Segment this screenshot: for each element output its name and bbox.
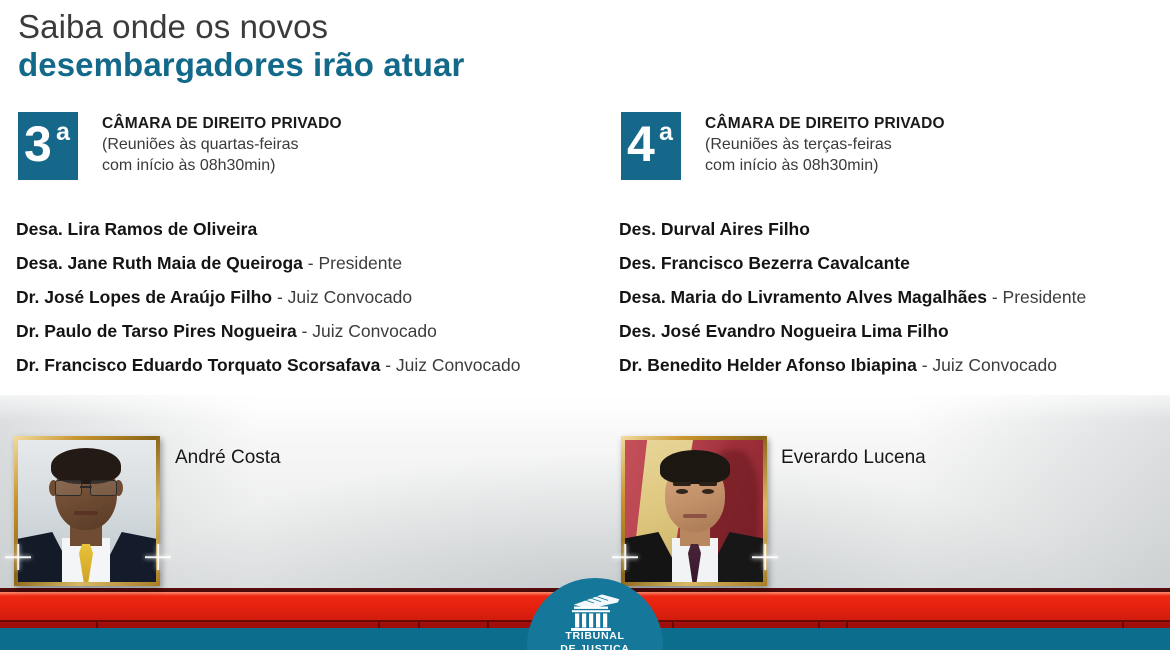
eye-left — [676, 489, 688, 494]
member-role: - Juiz Convocado — [297, 321, 437, 341]
member-row: Dr. Francisco Eduardo Torquato Scorsafav… — [16, 350, 616, 384]
member-row: Desa. Lira Ramos de Oliveira — [16, 214, 616, 248]
member-name: Dr. Benedito Helder Afonso Ibiapina — [619, 355, 917, 375]
member-row: Desa. Jane Ruth Maia de Queiroga - Presi… — [16, 248, 616, 282]
logo-line-2: DE JUSTIÇA — [527, 643, 663, 650]
member-name: Dr. José Lopes de Araújo Filho — [16, 287, 272, 307]
member-name: Des. Durval Aires Filho — [619, 219, 810, 239]
member-name: Dr. Paulo de Tarso Pires Nogueira — [16, 321, 297, 341]
eye-right — [702, 489, 714, 494]
chamber-schedule-3-line1: (Reuniões às quartas-feiras — [102, 134, 532, 155]
member-name: Des. Francisco Bezerra Cavalcante — [619, 253, 910, 273]
mouth — [74, 511, 98, 515]
member-row: Des. Durval Aires Filho — [619, 214, 1167, 248]
mouth — [683, 514, 707, 518]
member-role: - Presidente — [987, 287, 1086, 307]
eyeglasses-icon — [55, 480, 117, 495]
chamber-number-badge-3: 3 a — [18, 112, 78, 180]
member-role: - Juiz Convocado — [380, 355, 520, 375]
member-row: Dr. Benedito Helder Afonso Ibiapina - Ju… — [619, 350, 1167, 384]
background-top-fade — [0, 380, 1170, 420]
member-name: Desa. Lira Ramos de Oliveira — [16, 219, 257, 239]
portrait-frame — [621, 436, 767, 586]
chamber-name-3: CÂMARA DE DIREITO PRIVADO — [102, 114, 532, 134]
portrait-card-everardo-lucena — [621, 436, 767, 586]
member-name: Dr. Francisco Eduardo Torquato Scorsafav… — [16, 355, 380, 375]
member-row: Des. Francisco Bezerra Cavalcante — [619, 248, 1167, 282]
portrait-frame — [14, 436, 160, 586]
portrait-photo-andre-costa — [18, 440, 156, 582]
chamber-name-4: CÂMARA DE DIREITO PRIVADO — [705, 114, 1135, 134]
portrait-photo-everardo-lucena — [625, 440, 763, 582]
member-row: Dr. Paulo de Tarso Pires Nogueira - Juiz… — [16, 316, 616, 350]
logo-text: TRIBUNAL DE JUSTIÇA — [527, 630, 663, 650]
member-list-chamber-3: Desa. Lira Ramos de Oliveira Desa. Jane … — [16, 214, 616, 384]
infographic-canvas: Saiba onde os novos desembargadores irão… — [0, 0, 1170, 650]
chamber-schedule-4-line1: (Reuniões às terças-feiras — [705, 134, 1135, 155]
chamber-schedule-4-line2: com início às 08h30min) — [705, 155, 1135, 176]
portrait-card-andre-costa — [14, 436, 160, 586]
logo-line-1: TRIBUNAL — [527, 630, 663, 643]
portrait-name-andre-costa: André Costa — [175, 447, 281, 469]
chamber-number-4: 4 — [627, 116, 654, 172]
member-role: - Juiz Convocado — [272, 287, 412, 307]
member-name: Des. José Evandro Nogueira Lima Filho — [619, 321, 949, 341]
page-title: Saiba onde os novos desembargadores irão… — [18, 8, 918, 84]
hair — [51, 448, 121, 484]
background-wall-shading — [0, 395, 1170, 605]
chamber-schedule-3-line2: com início às 08h30min) — [102, 155, 532, 176]
member-role: - Juiz Convocado — [917, 355, 1057, 375]
member-list-chamber-4: Des. Durval Aires Filho Des. Francisco B… — [619, 214, 1167, 384]
eyebrow-left — [673, 482, 691, 486]
title-line-1: Saiba onde os novos — [18, 8, 918, 45]
hair — [660, 450, 730, 484]
title-line-2: desembargadores irão atuar — [18, 45, 918, 84]
eyebrow-right — [699, 482, 717, 486]
chamber-number-3: 3 — [24, 116, 51, 172]
member-name: Desa. Maria do Livramento Alves Magalhãe… — [619, 287, 987, 307]
chamber-number-badge-4: 4 a — [621, 112, 681, 180]
member-row: Dr. José Lopes de Araújo Filho - Juiz Co… — [16, 282, 616, 316]
chamber-ordinal-3: a — [56, 120, 70, 145]
member-role: - Presidente — [303, 253, 402, 273]
member-name: Desa. Jane Ruth Maia de Queiroga — [16, 253, 303, 273]
member-row: Desa. Maria do Livramento Alves Magalhãe… — [619, 282, 1167, 316]
member-row: Des. José Evandro Nogueira Lima Filho — [619, 316, 1167, 350]
portrait-name-everardo-lucena: Everardo Lucena — [781, 447, 926, 469]
chamber-ordinal-4: a — [659, 120, 673, 145]
